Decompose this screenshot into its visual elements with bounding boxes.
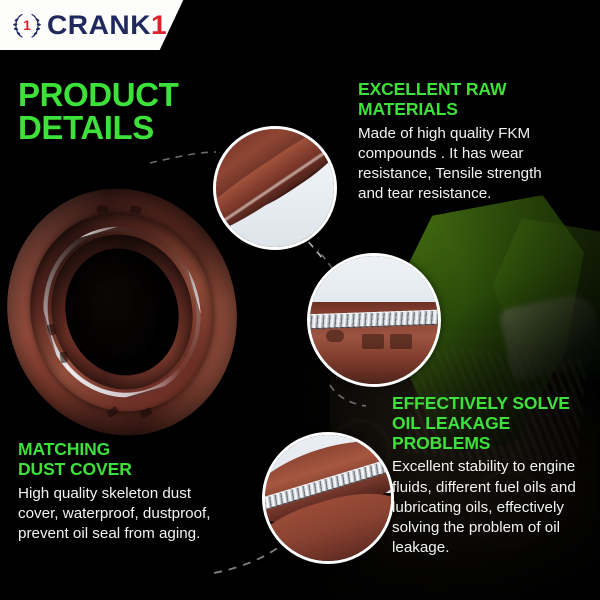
callout-garter-spring: [307, 253, 441, 387]
feature-heading: MATCHING DUST COVER: [18, 440, 230, 480]
page-title-line1: PRODUCT: [18, 78, 258, 111]
feature-block-dust-cover: MATCHING DUST COVER High quality skeleto…: [18, 440, 230, 544]
feature-block-oil-leakage: EFFECTIVELY SOLVE OIL LEAKAGE PROBLEMS E…: [392, 394, 592, 558]
brand-name-accent: 1: [151, 10, 167, 40]
brand-wordmark: CRANK1: [47, 12, 167, 39]
callout-sealing-lip: [262, 432, 394, 564]
callout-background: [310, 256, 438, 307]
feature-body: Made of high quality FKM compounds . It …: [358, 124, 570, 205]
feature-heading-line2: MATERIALS: [358, 99, 458, 119]
feature-heading-line1: EFFECTIVELY SOLVE: [392, 393, 570, 413]
feature-heading: EFFECTIVELY SOLVE OIL LEAKAGE PROBLEMS: [392, 394, 592, 453]
feature-body: Excellent stability to engine fluids, di…: [392, 457, 592, 558]
feature-heading-line2: DUST COVER: [18, 459, 132, 479]
brand-name: CRANK: [47, 10, 151, 40]
callout-raw-materials: [213, 126, 337, 250]
laurel-wreath-icon: 1: [12, 11, 42, 39]
seal-stamp-mark: [326, 330, 344, 342]
feature-block-raw-materials: EXCELLENT RAW MATERIALS Made of high qua…: [358, 80, 570, 204]
brand-logo[interactable]: 1 CRANK1: [12, 11, 163, 39]
feature-heading-line1: EXCELLENT RAW: [358, 79, 506, 99]
svg-text:1: 1: [23, 18, 31, 33]
page-title-line2: DETAILS: [18, 111, 258, 144]
page-title: PRODUCT DETAILS: [18, 78, 258, 144]
feature-body: High quality skeleton dust cover, waterp…: [18, 484, 230, 545]
seal-stamp-mark: [390, 334, 412, 349]
feature-heading-line3: PROBLEMS: [392, 433, 490, 453]
feature-heading-line1: MATCHING: [18, 439, 110, 459]
seal-notch: [97, 205, 108, 213]
feature-heading-line2: OIL LEAKAGE: [392, 413, 510, 433]
seal-stamp-mark: [362, 334, 384, 349]
seal-notch: [60, 351, 68, 363]
product-details-infographic: 1 CRANK1 PRODUCT DETAILS EXCELLENT RAW M…: [0, 0, 600, 600]
feature-heading: EXCELLENT RAW MATERIALS: [358, 80, 570, 120]
